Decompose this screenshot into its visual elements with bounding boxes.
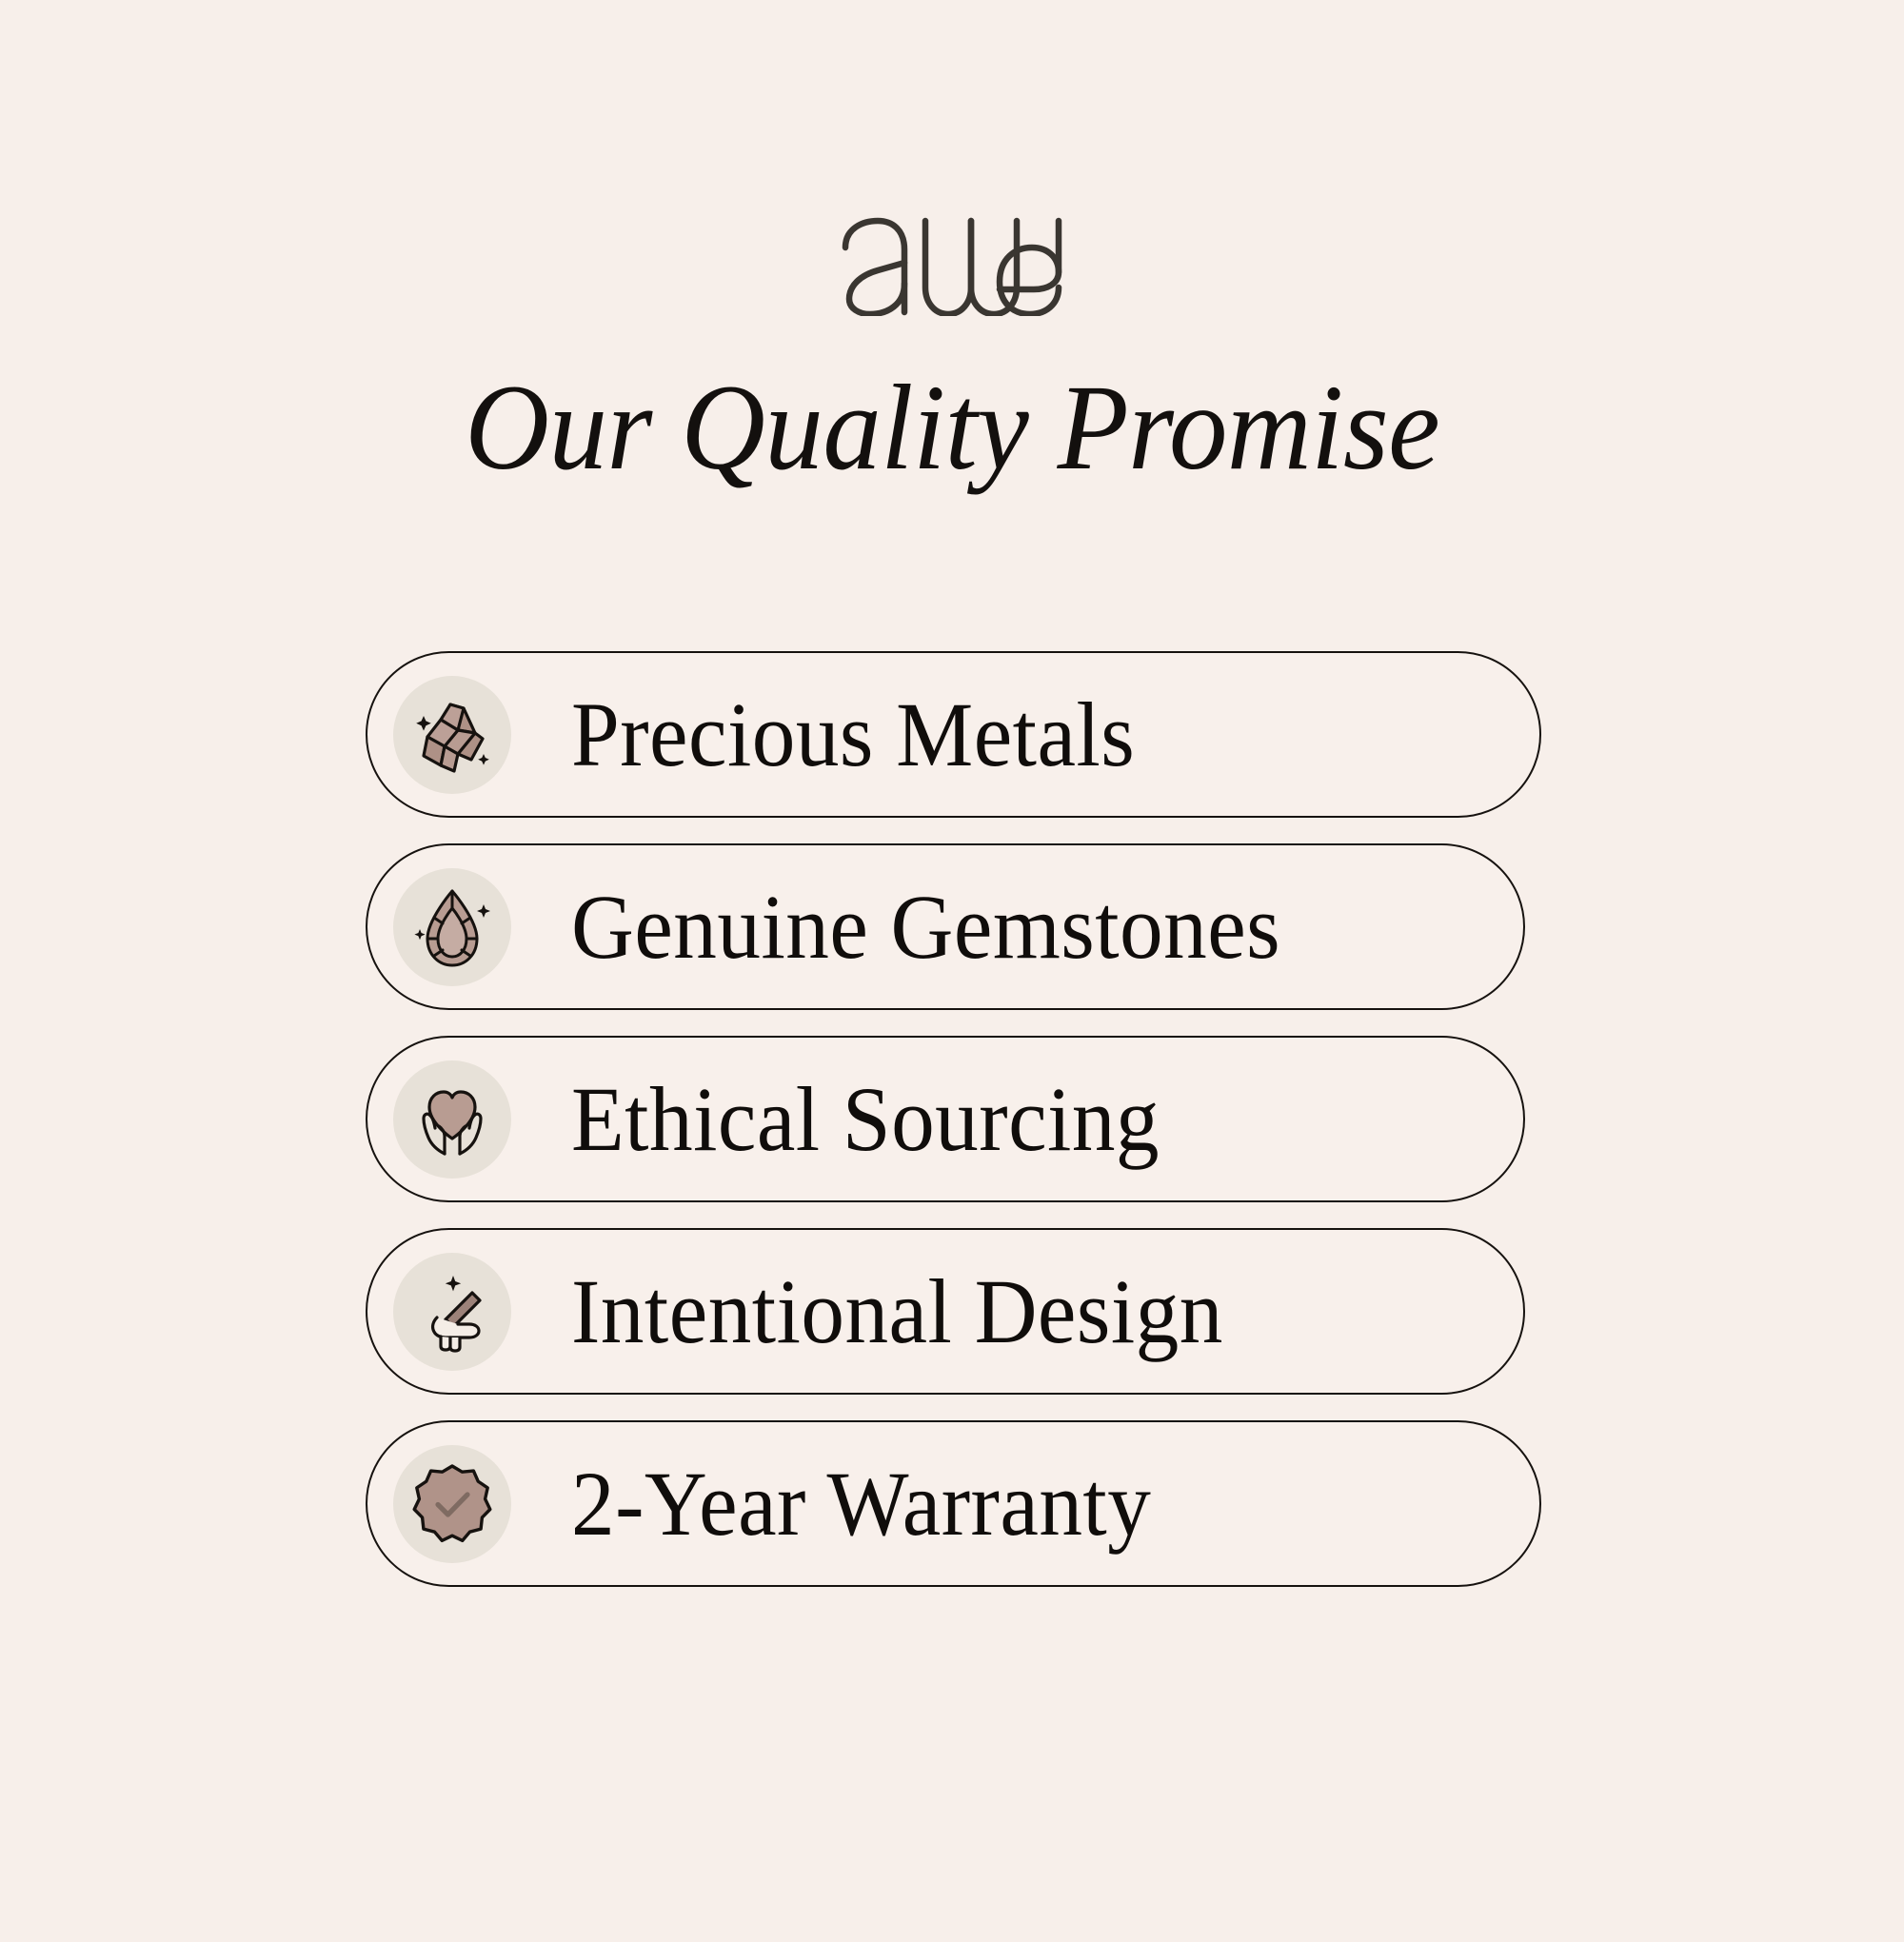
verified-badge-icon [408,1460,496,1548]
hand-pencil-icon [408,1268,496,1356]
icon-chip [393,1445,511,1563]
awe-wordmark-icon [838,213,1066,316]
promise-label: 2-Year Warranty [571,1458,1151,1550]
sparkle [445,1276,460,1291]
gold-bars-icon [408,691,496,779]
promise-item-warranty[interactable]: 2-Year Warranty [366,1420,1541,1587]
hands-heart-icon [408,1076,496,1163]
brand-logo [838,211,1066,318]
quality-promise-page: Our Quality Promise [0,0,1904,1942]
promise-label: Intentional Design [571,1266,1223,1357]
gemstone-icon [408,883,496,971]
page-title: Our Quality Promise [465,364,1439,491]
promise-item-genuine-gemstones[interactable]: Genuine Gemstones [366,843,1525,1010]
promise-label: Genuine Gemstones [571,882,1280,973]
promise-item-ethical-sourcing[interactable]: Ethical Sourcing [366,1036,1525,1202]
promise-list: Precious Metals [364,651,1541,1587]
promise-label: Ethical Sourcing [571,1074,1160,1165]
icon-chip [393,1060,511,1179]
promise-label: Precious Metals [571,689,1135,781]
icon-chip [393,868,511,986]
promise-item-precious-metals[interactable]: Precious Metals [366,651,1541,818]
promise-item-intentional-design[interactable]: Intentional Design [366,1228,1525,1395]
icon-chip [393,1253,511,1371]
icon-chip [393,676,511,794]
